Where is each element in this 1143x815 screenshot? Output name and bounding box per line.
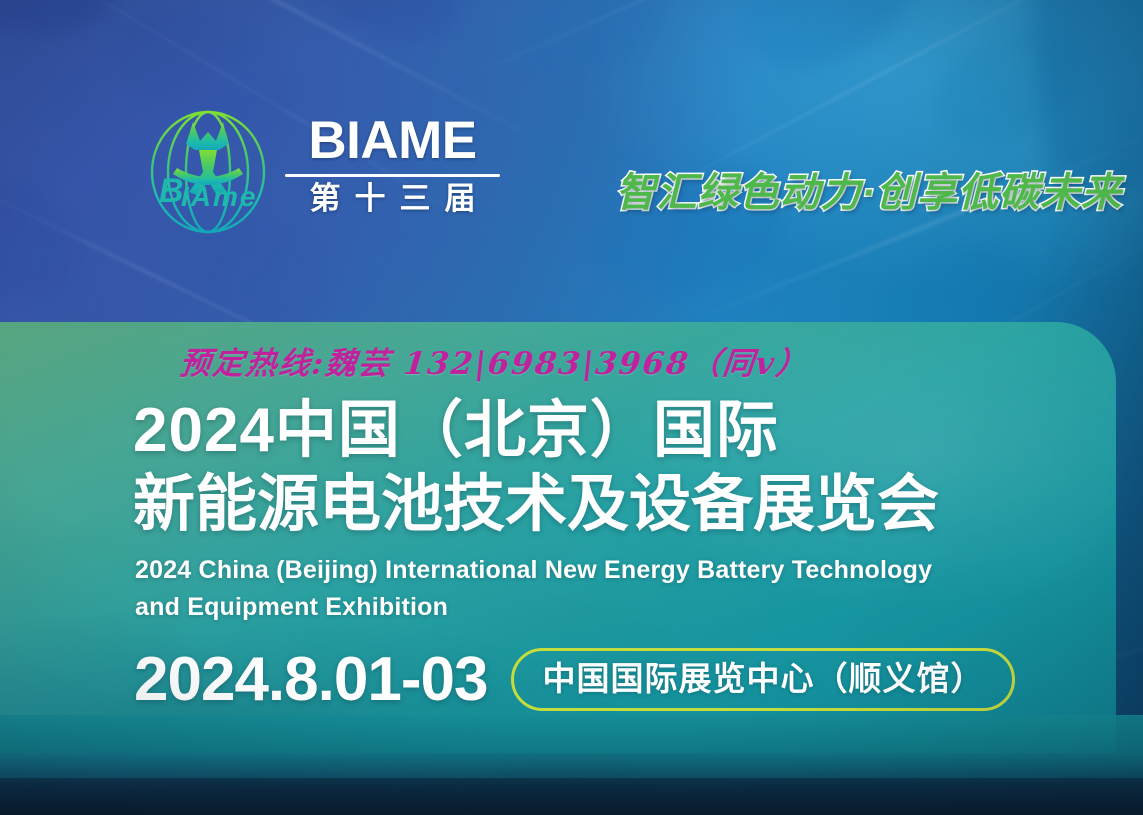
footer-dark-band	[0, 778, 1143, 815]
venue-badge: 中国国际展览中心（顺义馆）	[511, 648, 1015, 711]
title-line-2: 新能源电池技术及设备展览会	[133, 468, 1093, 542]
brand-name: BIAME	[285, 114, 500, 167]
subtitle-line-2: and Equipment Exhibition	[135, 589, 1035, 626]
biame-globe-logo: B IAme	[137, 106, 279, 238]
brand-wordmark: BIAME 第十三届	[285, 114, 500, 216]
date-venue-bar: 2024.8.01-03 中国国际展览中心（顺义馆）	[134, 648, 1015, 711]
exhibition-poster: B IAme BIAME 第十三届 智汇绿色动力·创享低碳未来 预定热线:魏芸 …	[0, 0, 1143, 815]
svg-text:IAme: IAme	[181, 181, 257, 212]
event-date: 2024.8.01-03	[134, 649, 487, 711]
subtitle-line-1: 2024 China (Beijing) International New E…	[135, 552, 1035, 589]
english-subtitle: 2024 China (Beijing) International New E…	[135, 552, 1035, 626]
poster-tagline: 智汇绿色动力·创享低碳未来	[562, 158, 1122, 220]
title-line-1: 2024中国（北京）国际	[133, 394, 1093, 468]
brand-divider	[285, 174, 500, 177]
main-title: 2024中国（北京）国际 新能源电池技术及设备展览会	[133, 394, 1093, 542]
brand-edition: 第十三届	[285, 183, 500, 216]
handwritten-contact-line: 预定热线:魏芸 132|6983|3968（同v）	[178, 338, 812, 383]
